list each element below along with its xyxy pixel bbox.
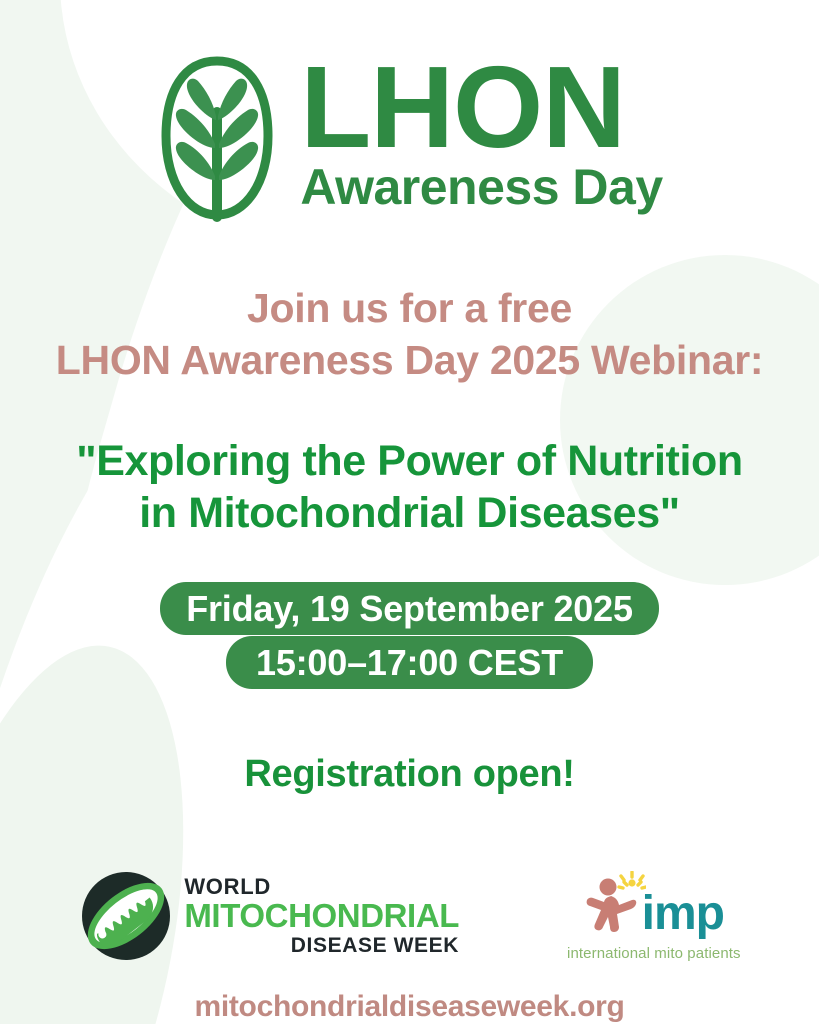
- person-starburst-icon: [584, 871, 646, 937]
- leaf-in-oval-icon: [156, 54, 278, 222]
- imp-tagline: international mito patients: [567, 945, 741, 962]
- date-badge-line-1: Friday, 19 September 2025: [160, 582, 659, 635]
- lhon-awareness-day-poster: LHON Awareness Day Join us for a free LH…: [0, 0, 819, 1024]
- lhon-logo-wordmark: LHON Awareness Day: [300, 58, 662, 217]
- poster-content: LHON Awareness Day Join us for a free LH…: [0, 0, 819, 1024]
- website-url[interactable]: mitochondrialdiseaseweek.org: [194, 990, 624, 1024]
- wmdw-line-mitochondrial: MITOCHONDRIAL: [184, 899, 459, 932]
- webinar-title-line-1: "Exploring the Power of Nutrition: [76, 435, 743, 487]
- lhon-logo-title: LHON: [300, 58, 662, 158]
- mitochondrion-circle-icon: [78, 868, 174, 964]
- intro-line-2: LHON Awareness Day 2025 Webinar:: [56, 335, 763, 387]
- wmdw-line-world: WORLD: [184, 876, 459, 898]
- partner-logos: WORLD MITOCHONDRIAL DISEASE WEEK: [0, 868, 819, 964]
- date-time-badge: Friday, 19 September 2025 15:00–17:00 CE…: [0, 582, 819, 691]
- webinar-title: "Exploring the Power of Nutrition in Mit…: [76, 435, 743, 540]
- webinar-title-line-2: in Mitochondrial Diseases": [76, 487, 743, 539]
- intro-line-1: Join us for a free: [56, 283, 763, 335]
- international-mito-patients-logo: imp international mito patients: [567, 871, 741, 962]
- imp-wordmark: imp: [642, 892, 724, 936]
- imp-logo-row: imp: [584, 871, 724, 937]
- world-mitochondrial-disease-week-logo: WORLD MITOCHONDRIAL DISEASE WEEK: [78, 868, 459, 964]
- date-badge-line-2: 15:00–17:00 CEST: [226, 636, 593, 689]
- registration-status: Registration open!: [244, 753, 574, 796]
- lhon-logo: LHON Awareness Day: [156, 52, 662, 223]
- wmdw-line-disease-week: DISEASE WEEK: [291, 935, 459, 956]
- wmdw-wordmark: WORLD MITOCHONDRIAL DISEASE WEEK: [184, 876, 459, 956]
- intro-text: Join us for a free LHON Awareness Day 20…: [56, 283, 763, 386]
- lhon-logo-subtitle: Awareness Day: [300, 158, 662, 217]
